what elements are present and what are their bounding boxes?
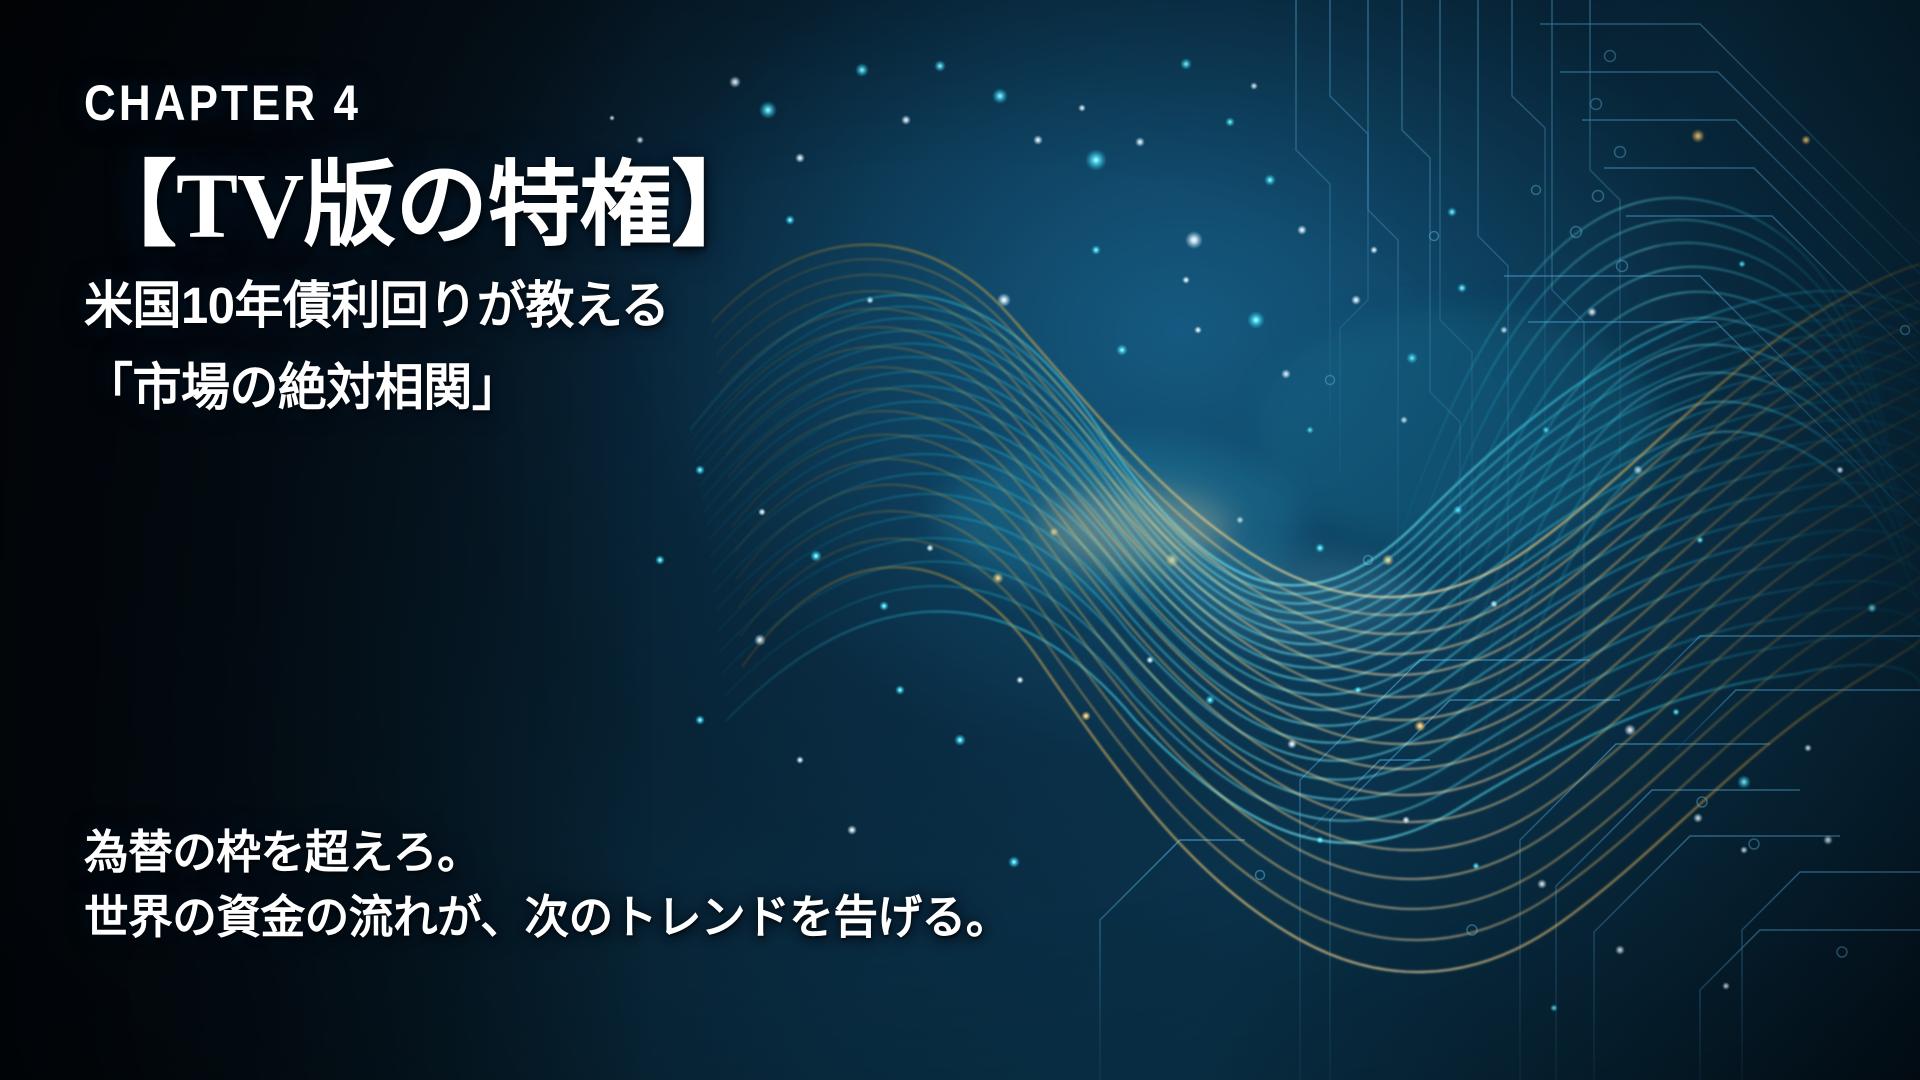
- tagline-line-2: 世界の資金の流れが、次のトレンドを告げる。: [84, 885, 1010, 950]
- title-text-block: CHAPTER 4 【TV版の特権】 米国10年債利回りが教える 「市場の絶対相…: [84, 78, 904, 421]
- page-title: 【TV版の特権】: [84, 158, 904, 257]
- subtitle-line-2: 「市場の絶対相関」: [84, 355, 871, 421]
- tagline-line-1: 為替の枠を超えろ。: [84, 820, 1010, 885]
- subtitle-line-1: 米国10年債利回りが教える: [84, 273, 871, 339]
- tagline-block: 為替の枠を超えろ。 世界の資金の流れが、次のトレンドを告げる。: [84, 820, 1039, 951]
- chapter-title-slide: CHAPTER 4 【TV版の特権】 米国10年債利回りが教える 「市場の絶対相…: [0, 0, 1920, 1080]
- chapter-label: CHAPTER 4: [84, 78, 806, 128]
